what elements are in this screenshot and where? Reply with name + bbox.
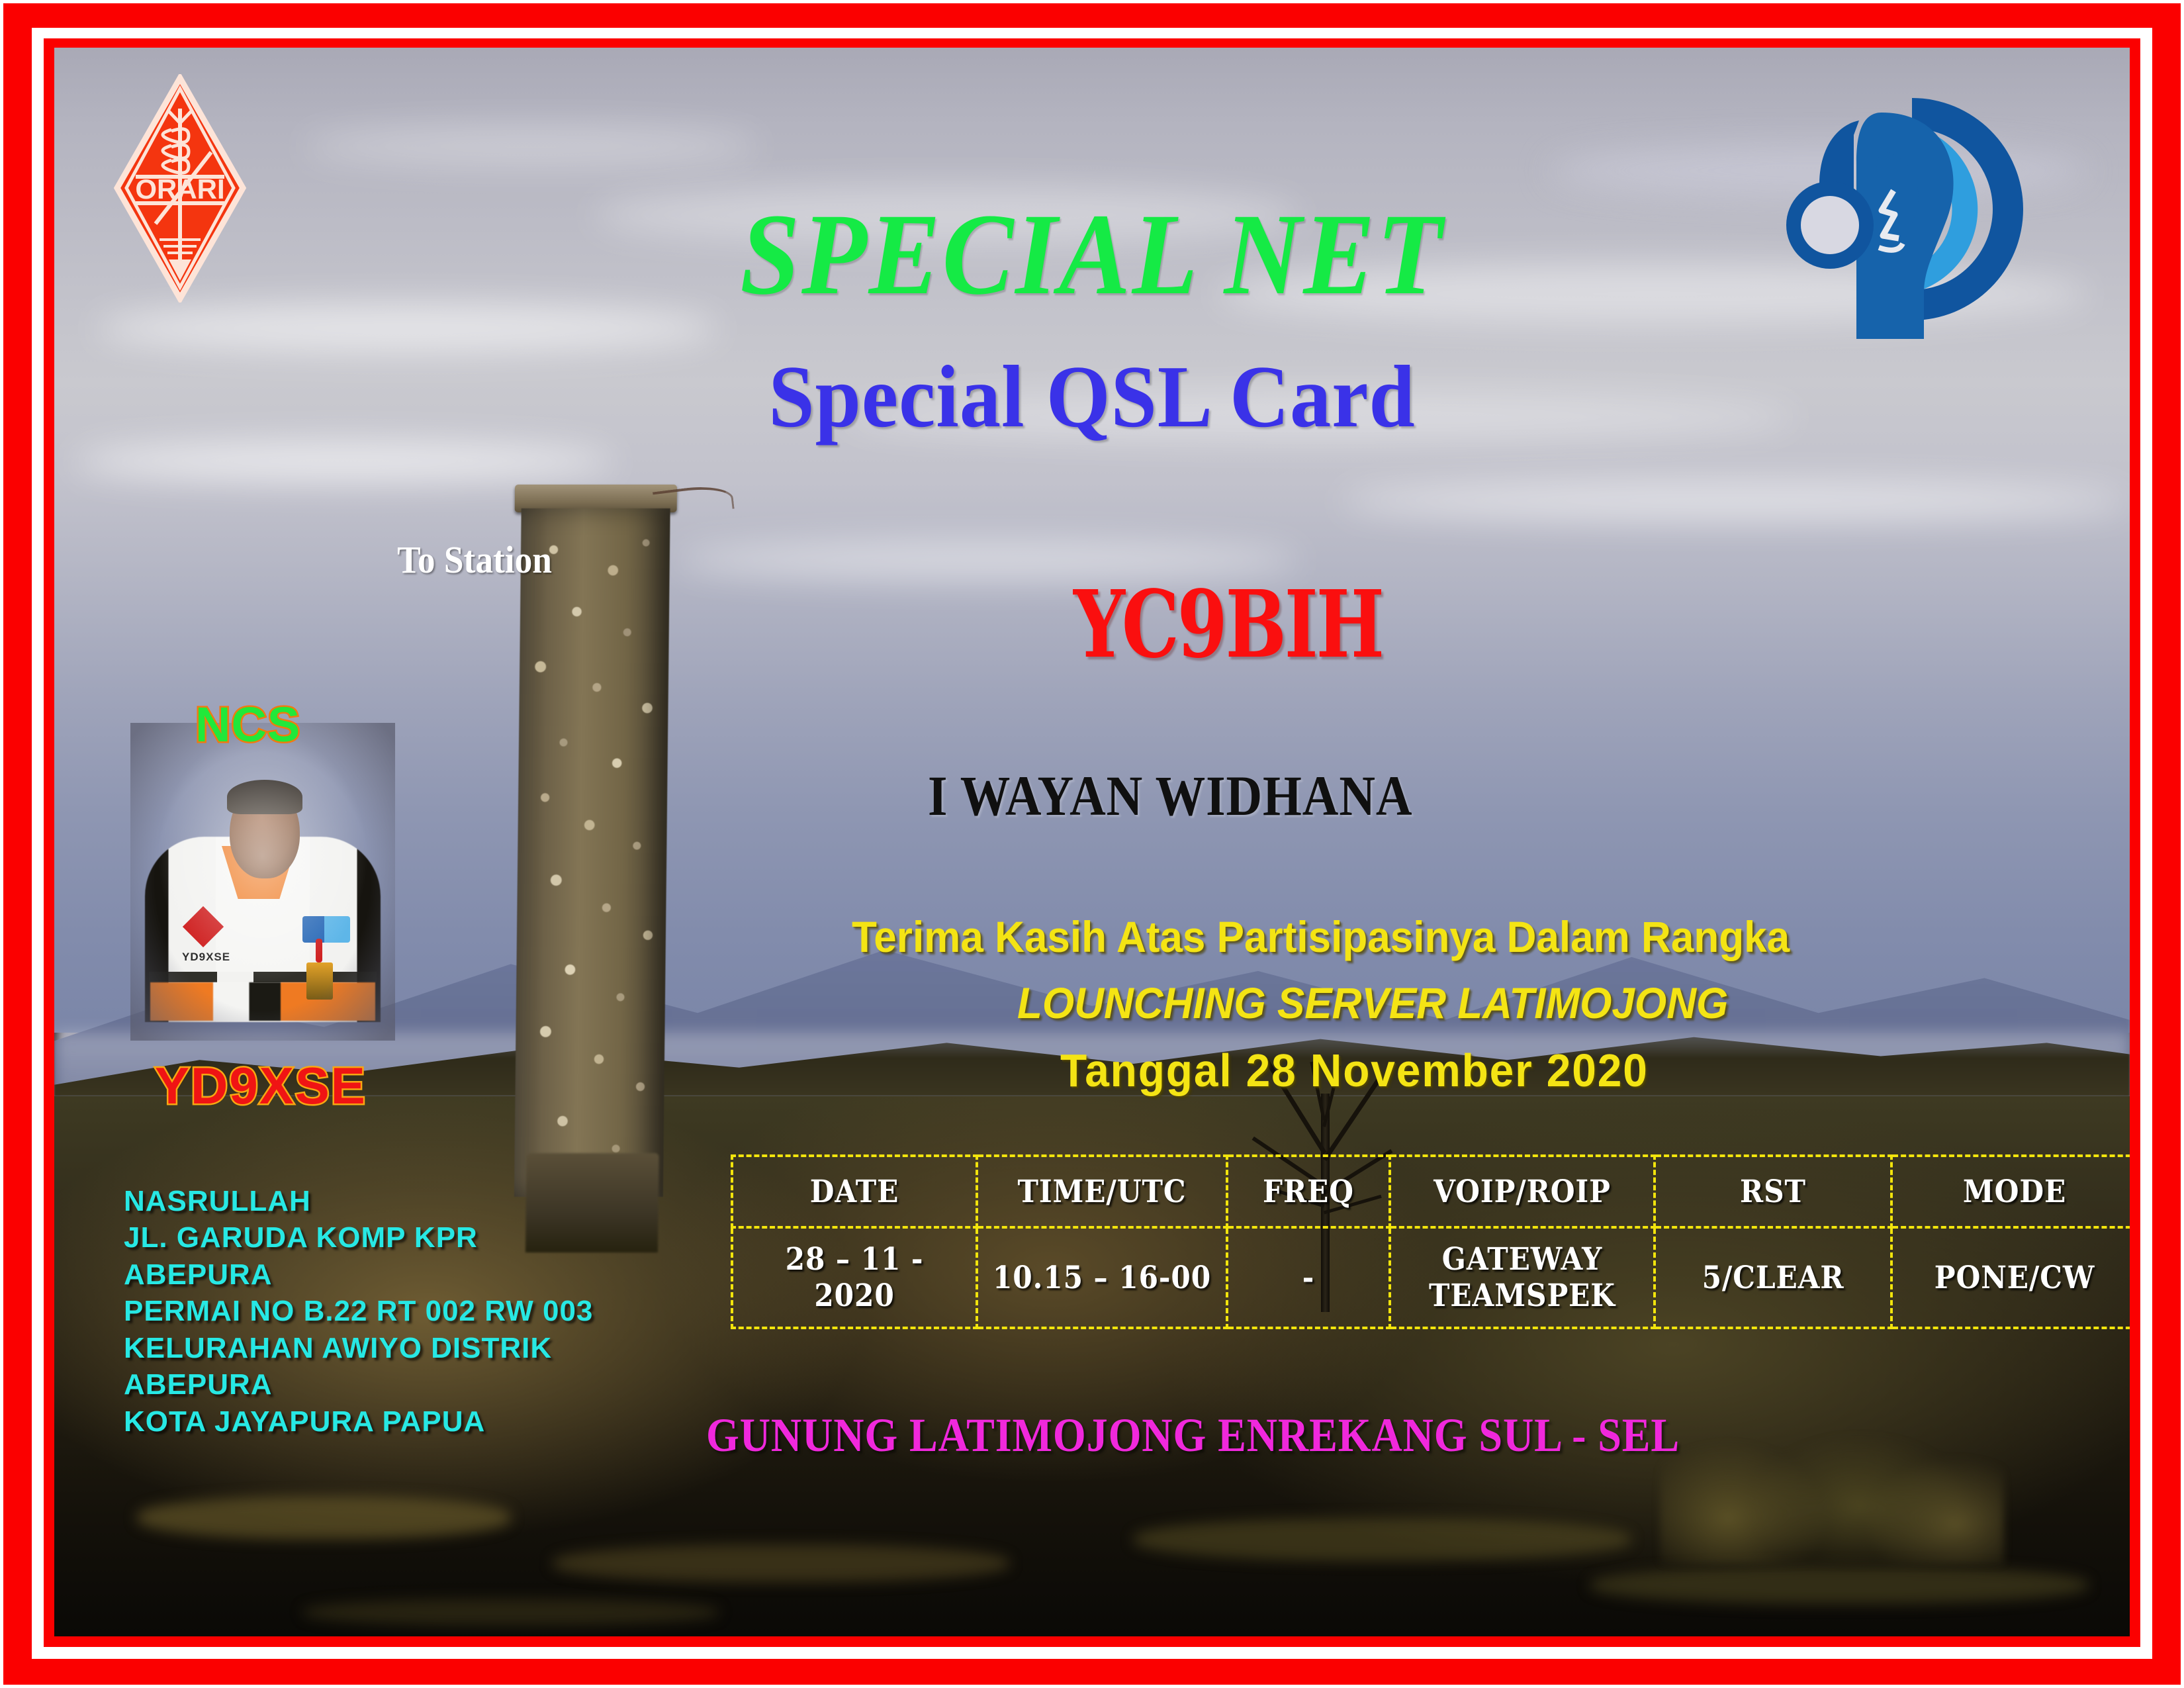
web-address-text: Address : amatir.latimojong.com [1312,1631,1917,1636]
cloud [303,126,760,166]
cell-rst: 5/CLEAR [1666,1227,1880,1328]
grass-patch [303,1599,718,1626]
address-line: KOTA JAYAPURA PAPUA [124,1403,593,1440]
grass-patch [137,1496,510,1539]
ncs-label: NCS [195,696,300,753]
address-line: ABEPURA [124,1256,593,1293]
location-caption: GUNUNG LATIMOJONG ENREKANG SUL - SEL [706,1408,1680,1463]
address-line: KELURAHAN AWIYO DISTRIK [124,1330,593,1366]
grass-patch [1134,1518,1632,1561]
cell-time: 10.15 – 16-00 [989,1227,1214,1328]
station-callsign: YC9BIH [1073,571,1383,679]
card-photo-background: ORARI [54,48,2130,1636]
table-header-freq: FREQ [1235,1156,1381,1227]
cloud [75,442,614,481]
grass-patch [553,1544,1009,1582]
stone-cairn-monument [514,485,670,1252]
table-header-voip-roip: VOIP/ROIP [1403,1156,1641,1227]
qsl-card-root: ORARI [0,0,2184,1688]
table-header-row: DATE TIME/UTC FREQ VOIP/ROIP RST MODE [732,1156,2130,1227]
address-line: NASRULLAH [124,1183,593,1219]
photo-vignette [130,723,395,1041]
card-title-special-net: SPECIAL NET [137,188,2046,322]
cell-voip-roip-line2: TEAMSPEK [1404,1278,1640,1314]
operator-name: I WAYAN WIDHANA [928,763,1412,829]
foreground-shrub [1660,1411,2004,1564]
table-header-rst: RST [1666,1156,1880,1227]
card-subtitle-special-qsl-card: Special QSL Card [127,346,2057,447]
cloud [1341,481,2130,521]
station-address-block: NASRULLAH JL. GARUDA KOMP KPR ABEPURA PE… [124,1183,593,1440]
table-header-date: DATE [745,1156,965,1227]
address-line: ABEPURA [124,1366,593,1403]
cairn-stonework [514,508,670,1197]
table-header-mode: MODE [1904,1156,2126,1227]
address-line: PERMAI NO B.22 RT 002 RW 003 [124,1293,593,1329]
cell-freq: - [1235,1227,1381,1328]
cell-voip-roip-line1: GATEWAY [1404,1241,1640,1278]
table-row: 28 – 11 - 2020 10.15 – 16-00 - GATEWAY T… [732,1227,2130,1328]
event-line: LOUNCHING SERVER LATIMOJONG [1017,978,1728,1028]
qso-log-table: DATE TIME/UTC FREQ VOIP/ROIP RST MODE 28… [731,1154,2130,1329]
grass-patch [1590,1566,2089,1604]
cell-voip-roip: GATEWAY TEAMSPEK [1403,1227,1641,1328]
to-station-label: To Station [397,538,552,582]
event-date-line: Tanggal 28 November 2020 [1060,1044,1649,1097]
table-header-time: TIME/UTC [989,1156,1214,1227]
cell-mode: PONE/CW [1904,1227,2126,1328]
cell-date: 28 – 11 - 2020 [745,1227,965,1328]
slogan-text: "AMATIR RADIO ADALAH PROGRESIVE" [132,1631,1005,1636]
address-line: JL. GARUDA KOMP KPR [124,1219,593,1256]
ncs-operator-photo: YD9XSE [130,723,395,1041]
ncs-callsign: YD9XSE [155,1056,367,1116]
thanks-line: Terima Kasih Atas Partisipasinya Dalam R… [852,912,1790,962]
